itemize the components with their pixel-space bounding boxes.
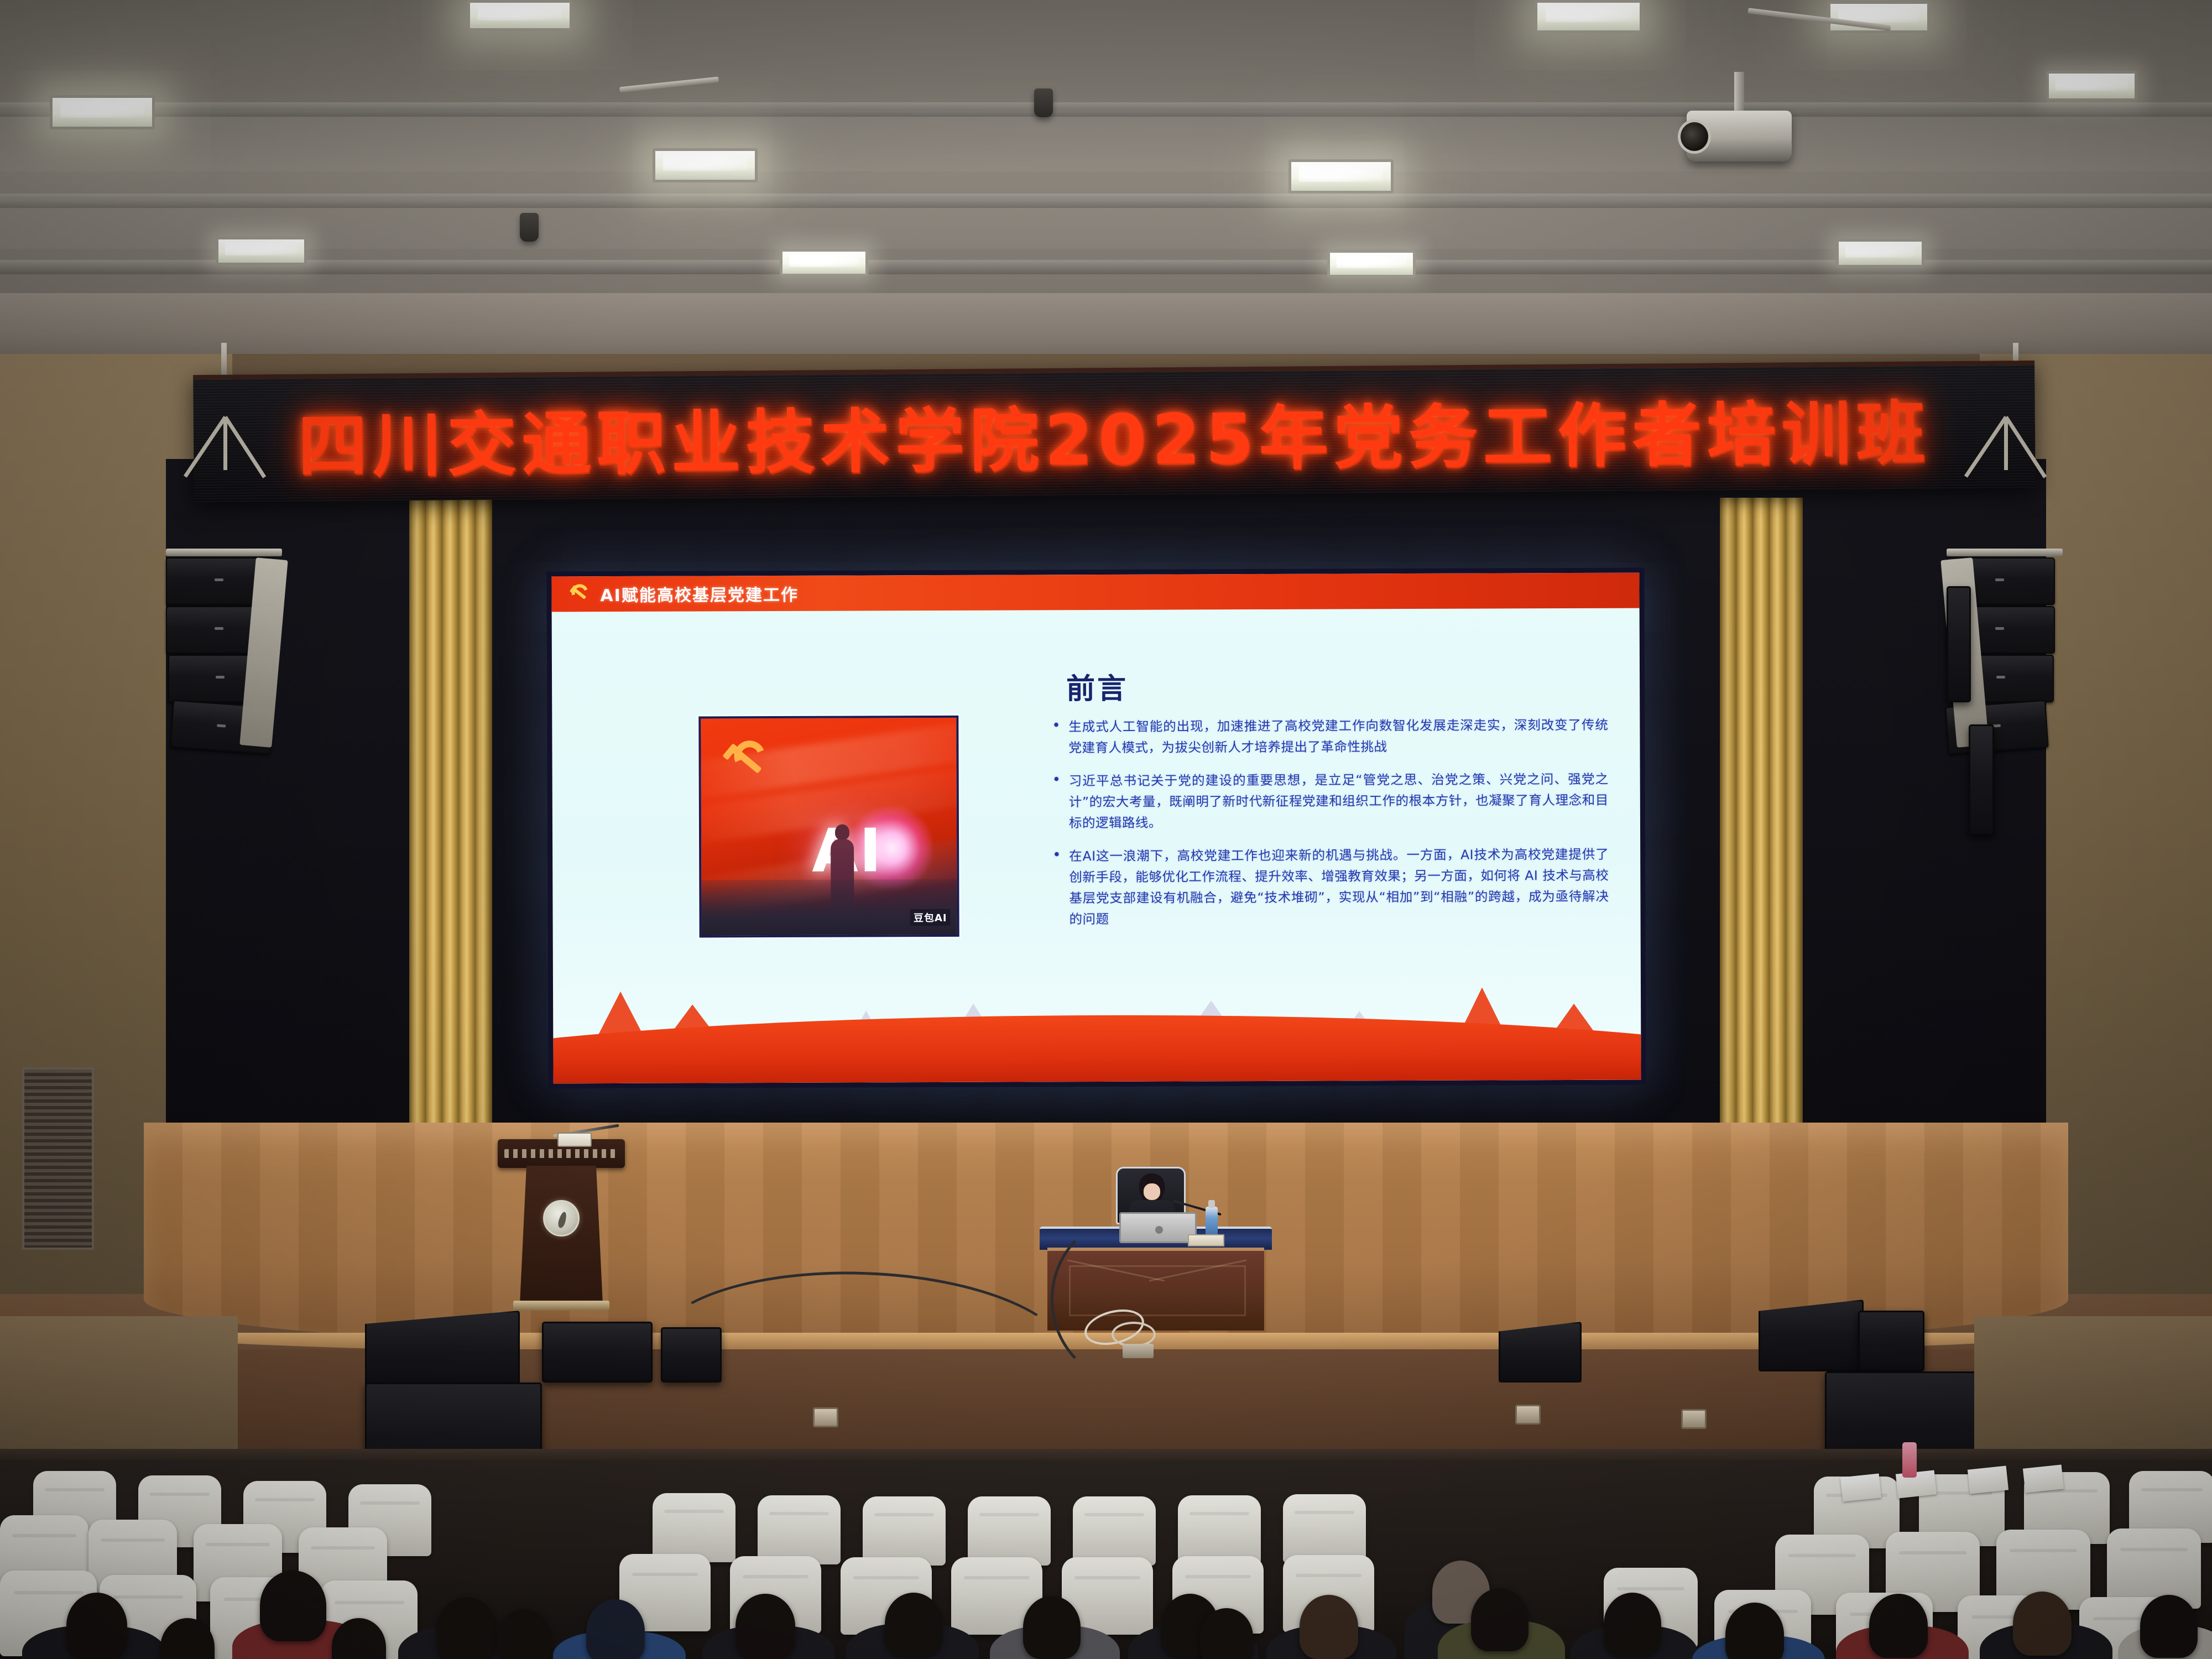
slide-header-title: AI赋能高校基层党建工作 — [600, 581, 799, 606]
ceiling-light — [216, 237, 307, 265]
ceiling-light — [467, 0, 572, 31]
auditorium-seat — [863, 1496, 946, 1566]
stage-monitor — [1759, 1300, 1864, 1371]
auditorium-seat — [1178, 1495, 1261, 1564]
water-bottle — [1206, 1207, 1218, 1238]
auditorium-seat — [758, 1495, 841, 1564]
stage-monitor — [365, 1311, 520, 1394]
audience-member — [437, 1597, 497, 1659]
slide-title: 前言 — [1066, 665, 1128, 707]
desk-name-card — [1188, 1234, 1224, 1246]
lectern-name-plate — [557, 1133, 592, 1147]
audience-area — [0, 1460, 2212, 1659]
image-watermark: 豆包AI — [910, 909, 951, 926]
hammer-and-sickle-icon — [719, 737, 773, 786]
audience-member — [1471, 1588, 1528, 1651]
audience-member — [260, 1571, 326, 1641]
presentation-slide: AI赋能高校基层党建工作 AI 豆包AI 前言 — [551, 573, 1641, 1084]
audience-member — [1869, 1594, 1928, 1658]
projector-rig — [1681, 72, 1797, 166]
audience-member — [2140, 1595, 2198, 1658]
slide-header: AI赋能高校基层党建工作 — [551, 573, 1639, 612]
stage-curtain-left — [409, 498, 492, 1161]
audience-member — [66, 1593, 127, 1659]
side-speaker-left — [1947, 586, 1971, 702]
handout-paper — [1968, 1465, 2008, 1494]
audience-member — [1300, 1595, 1358, 1659]
floor-outlet — [1515, 1405, 1541, 1425]
slide-mountain-decoration — [553, 975, 1641, 1084]
list-item: 习近平总书记关于党的建设的重要思想，是立足“管党之思、治党之策、兴党之问、强党之… — [1050, 769, 1609, 834]
air-vent — [22, 1067, 94, 1250]
slide-body: AI 豆包AI 前言 生成式人工智能的出现，加速推进了高校党建工作向数智化发展走… — [552, 608, 1641, 1084]
ceiling-light — [780, 249, 868, 276]
floor-cable-box — [1123, 1344, 1154, 1358]
auditorium-seat — [1283, 1494, 1366, 1563]
auditorium-seat — [653, 1493, 735, 1562]
audience-member — [1604, 1593, 1661, 1656]
audience-member — [735, 1594, 795, 1659]
led-banner: 四川交通职业技术学院2025年党务工作者培训班 — [193, 361, 2036, 502]
handout-paper — [2023, 1464, 2064, 1493]
audience-member — [885, 1593, 942, 1656]
list-item: 在AI这一浪潮下，高校党建工作也迎来新的机遇与挑战。一方面，AI技术为高校党建提… — [1050, 844, 1609, 930]
ceiling-light — [1836, 239, 1924, 268]
ceiling-light — [2046, 71, 2137, 101]
lectern — [498, 1128, 625, 1305]
led-banner-text: 四川交通职业技术学院2025年党务工作者培训班 — [193, 376, 2035, 491]
auditorium-seat — [1073, 1496, 1156, 1566]
ceiling-light — [50, 95, 155, 129]
projection-screen: AI赋能高校基层党建工作 AI 豆包AI 前言 — [546, 568, 1646, 1089]
list-item: 生成式人工智能的出现，加速推进了高校党建工作向数智化发展走深走实，深刻改变了传统… — [1050, 714, 1608, 759]
ceiling-rail — [619, 77, 719, 93]
stage-monitor — [1499, 1322, 1582, 1383]
ceiling-light — [1535, 0, 1642, 33]
ceiling-light — [1288, 159, 1394, 194]
projector-lens — [1678, 119, 1711, 154]
ceiling-light — [1327, 250, 1416, 278]
handout-paper — [1840, 1473, 1881, 1501]
audience-member — [1023, 1596, 1081, 1659]
floor-outlet — [1681, 1409, 1707, 1429]
stage-monitor — [1858, 1311, 1924, 1371]
audience-member — [586, 1599, 645, 1659]
side-speaker-right — [1969, 724, 1994, 835]
ceiling-spotlight — [1034, 88, 1053, 117]
stage-monitor — [661, 1327, 722, 1383]
stage-monitor — [542, 1322, 653, 1383]
laptop — [1119, 1212, 1197, 1243]
stage-curtain-right — [1720, 498, 1803, 1161]
auditorium-scene: 四川交通职业技术学院2025年党务工作者培训班 AI赋能高校基层党建工作 — [0, 0, 2212, 1659]
slide-bullet-list: 生成式人工智能的出现，加速推进了高校党建工作向数智化发展走深走实，深刻改变了传统… — [1050, 714, 1609, 942]
auditorium-seat — [968, 1496, 1051, 1566]
school-emblem-icon — [543, 1200, 580, 1237]
hammer-and-sickle-icon — [568, 582, 591, 606]
water-bottle — [1902, 1442, 1917, 1478]
audience-member — [498, 1609, 551, 1659]
ceiling-light — [653, 148, 758, 182]
ceiling-spotlight — [520, 213, 539, 242]
slide-illustration: AI 豆包AI — [698, 716, 959, 938]
audience-member — [2013, 1592, 2072, 1656]
